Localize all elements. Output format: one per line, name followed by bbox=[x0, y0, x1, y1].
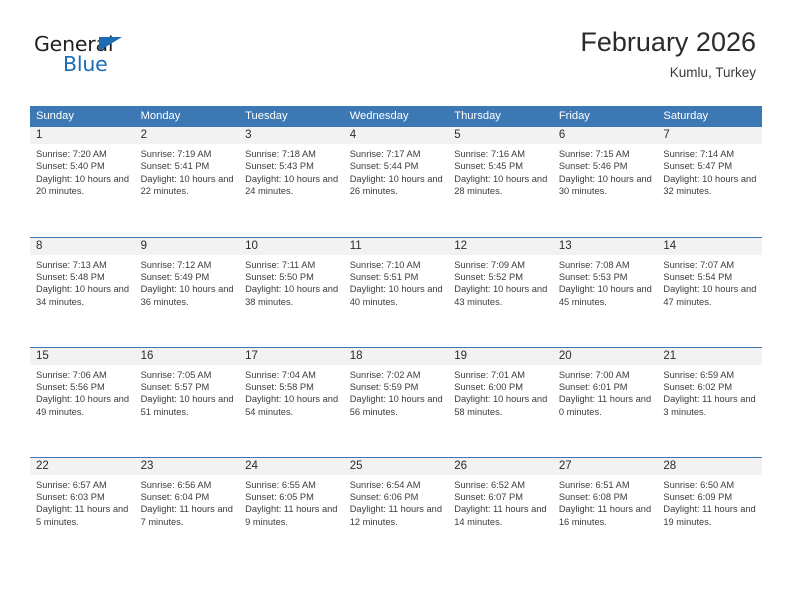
day-details: Sunrise: 6:57 AMSunset: 6:03 PMDaylight:… bbox=[30, 475, 135, 529]
sunset-text: Sunset: 5:53 PM bbox=[559, 271, 653, 283]
sunset-text: Sunset: 6:08 PM bbox=[559, 491, 653, 503]
sunrise-text: Sunrise: 6:55 AM bbox=[245, 479, 339, 491]
calendar-day-cell[interactable]: 10Sunrise: 7:11 AMSunset: 5:50 PMDayligh… bbox=[239, 237, 344, 347]
sunset-text: Sunset: 5:54 PM bbox=[663, 271, 757, 283]
day-details: Sunrise: 7:16 AMSunset: 5:45 PMDaylight:… bbox=[448, 144, 553, 198]
sunrise-text: Sunrise: 6:51 AM bbox=[559, 479, 653, 491]
day-details: Sunrise: 7:09 AMSunset: 5:52 PMDaylight:… bbox=[448, 255, 553, 309]
day-number: 10 bbox=[239, 238, 344, 255]
daylight-text: Daylight: 11 hours and 9 minutes. bbox=[245, 503, 339, 528]
sunrise-text: Sunrise: 7:05 AM bbox=[141, 369, 235, 381]
sunrise-text: Sunrise: 7:17 AM bbox=[350, 148, 444, 160]
sunrise-text: Sunrise: 7:14 AM bbox=[663, 148, 757, 160]
day-number: 19 bbox=[448, 348, 553, 365]
calendar-day-cell[interactable]: 4Sunrise: 7:17 AMSunset: 5:44 PMDaylight… bbox=[344, 127, 449, 237]
calendar-day-cell[interactable]: 6Sunrise: 7:15 AMSunset: 5:46 PMDaylight… bbox=[553, 127, 658, 237]
calendar-day-cell[interactable]: 11Sunrise: 7:10 AMSunset: 5:51 PMDayligh… bbox=[344, 237, 449, 347]
calendar-week-row: 8Sunrise: 7:13 AMSunset: 5:48 PMDaylight… bbox=[30, 237, 762, 347]
sunset-text: Sunset: 5:56 PM bbox=[36, 381, 130, 393]
weekday-header-monday: Monday bbox=[135, 106, 240, 127]
sunrise-text: Sunrise: 7:09 AM bbox=[454, 259, 548, 271]
daylight-text: Daylight: 10 hours and 34 minutes. bbox=[36, 283, 130, 308]
day-number: 17 bbox=[239, 348, 344, 365]
day-details: Sunrise: 6:52 AMSunset: 6:07 PMDaylight:… bbox=[448, 475, 553, 529]
sunset-text: Sunset: 5:58 PM bbox=[245, 381, 339, 393]
calendar-week-row: 22Sunrise: 6:57 AMSunset: 6:03 PMDayligh… bbox=[30, 457, 762, 567]
calendar-day-cell[interactable]: 20Sunrise: 7:00 AMSunset: 6:01 PMDayligh… bbox=[553, 347, 658, 457]
weekday-header-saturday: Saturday bbox=[657, 106, 762, 127]
daylight-text: Daylight: 11 hours and 7 minutes. bbox=[141, 503, 235, 528]
sunset-text: Sunset: 6:03 PM bbox=[36, 491, 130, 503]
calendar-day-cell[interactable]: 24Sunrise: 6:55 AMSunset: 6:05 PMDayligh… bbox=[239, 457, 344, 567]
calendar-day-cell[interactable]: 15Sunrise: 7:06 AMSunset: 5:56 PMDayligh… bbox=[30, 347, 135, 457]
weekday-header-thursday: Thursday bbox=[448, 106, 553, 127]
day-number: 25 bbox=[344, 458, 449, 475]
daylight-text: Daylight: 10 hours and 49 minutes. bbox=[36, 393, 130, 418]
day-number: 18 bbox=[344, 348, 449, 365]
calendar-day-cell[interactable]: 13Sunrise: 7:08 AMSunset: 5:53 PMDayligh… bbox=[553, 237, 658, 347]
day-details: Sunrise: 7:12 AMSunset: 5:49 PMDaylight:… bbox=[135, 255, 240, 309]
sunset-text: Sunset: 6:06 PM bbox=[350, 491, 444, 503]
sunrise-text: Sunrise: 7:20 AM bbox=[36, 148, 130, 160]
daylight-text: Daylight: 10 hours and 22 minutes. bbox=[141, 173, 235, 198]
day-details: Sunrise: 7:08 AMSunset: 5:53 PMDaylight:… bbox=[553, 255, 658, 309]
daylight-text: Daylight: 10 hours and 24 minutes. bbox=[245, 173, 339, 198]
day-details: Sunrise: 6:54 AMSunset: 6:06 PMDaylight:… bbox=[344, 475, 449, 529]
day-details: Sunrise: 7:10 AMSunset: 5:51 PMDaylight:… bbox=[344, 255, 449, 309]
sunrise-text: Sunrise: 6:52 AM bbox=[454, 479, 548, 491]
day-number: 14 bbox=[657, 238, 762, 255]
sunset-text: Sunset: 6:05 PM bbox=[245, 491, 339, 503]
calendar-day-cell[interactable]: 27Sunrise: 6:51 AMSunset: 6:08 PMDayligh… bbox=[553, 457, 658, 567]
day-number: 3 bbox=[239, 127, 344, 144]
sunrise-text: Sunrise: 7:01 AM bbox=[454, 369, 548, 381]
calendar-day-cell[interactable]: 25Sunrise: 6:54 AMSunset: 6:06 PMDayligh… bbox=[344, 457, 449, 567]
day-number: 2 bbox=[135, 127, 240, 144]
day-details: Sunrise: 6:59 AMSunset: 6:02 PMDaylight:… bbox=[657, 365, 762, 419]
weekday-header-friday: Friday bbox=[553, 106, 658, 127]
sunset-text: Sunset: 5:49 PM bbox=[141, 271, 235, 283]
sunrise-text: Sunrise: 6:59 AM bbox=[663, 369, 757, 381]
sunset-text: Sunset: 5:47 PM bbox=[663, 160, 757, 172]
day-number: 12 bbox=[448, 238, 553, 255]
day-details: Sunrise: 7:17 AMSunset: 5:44 PMDaylight:… bbox=[344, 144, 449, 198]
daylight-text: Daylight: 10 hours and 30 minutes. bbox=[559, 173, 653, 198]
sunrise-text: Sunrise: 7:02 AM bbox=[350, 369, 444, 381]
sunset-text: Sunset: 5:41 PM bbox=[141, 160, 235, 172]
sunset-text: Sunset: 5:57 PM bbox=[141, 381, 235, 393]
calendar-day-cell[interactable]: 28Sunrise: 6:50 AMSunset: 6:09 PMDayligh… bbox=[657, 457, 762, 567]
day-number: 21 bbox=[657, 348, 762, 365]
day-details: Sunrise: 7:00 AMSunset: 6:01 PMDaylight:… bbox=[553, 365, 658, 419]
day-number: 23 bbox=[135, 458, 240, 475]
day-number: 1 bbox=[30, 127, 135, 144]
day-details: Sunrise: 7:14 AMSunset: 5:47 PMDaylight:… bbox=[657, 144, 762, 198]
day-number: 20 bbox=[553, 348, 658, 365]
title-block: February 2026 Kumlu, Turkey bbox=[580, 28, 756, 81]
day-details: Sunrise: 6:55 AMSunset: 6:05 PMDaylight:… bbox=[239, 475, 344, 529]
calendar-day-cell[interactable]: 3Sunrise: 7:18 AMSunset: 5:43 PMDaylight… bbox=[239, 127, 344, 237]
calendar-header-row: Sunday Monday Tuesday Wednesday Thursday… bbox=[30, 106, 762, 127]
daylight-text: Daylight: 10 hours and 56 minutes. bbox=[350, 393, 444, 418]
calendar-day-cell[interactable]: 1Sunrise: 7:20 AMSunset: 5:40 PMDaylight… bbox=[30, 127, 135, 237]
daylight-text: Daylight: 10 hours and 36 minutes. bbox=[141, 283, 235, 308]
sunrise-text: Sunrise: 6:57 AM bbox=[36, 479, 130, 491]
general-blue-logo: General Blue bbox=[34, 28, 144, 80]
daylight-text: Daylight: 11 hours and 5 minutes. bbox=[36, 503, 130, 528]
sunset-text: Sunset: 5:48 PM bbox=[36, 271, 130, 283]
sunset-text: Sunset: 6:04 PM bbox=[141, 491, 235, 503]
day-details: Sunrise: 7:11 AMSunset: 5:50 PMDaylight:… bbox=[239, 255, 344, 309]
calendar-page: General Blue February 2026 Kumlu, Turkey… bbox=[0, 0, 792, 612]
sunrise-text: Sunrise: 6:54 AM bbox=[350, 479, 444, 491]
calendar-day-cell[interactable]: 5Sunrise: 7:16 AMSunset: 5:45 PMDaylight… bbox=[448, 127, 553, 237]
day-number: 24 bbox=[239, 458, 344, 475]
daylight-text: Daylight: 10 hours and 38 minutes. bbox=[245, 283, 339, 308]
calendar-week-row: 1Sunrise: 7:20 AMSunset: 5:40 PMDaylight… bbox=[30, 127, 762, 237]
sunrise-text: Sunrise: 7:08 AM bbox=[559, 259, 653, 271]
day-details: Sunrise: 7:13 AMSunset: 5:48 PMDaylight:… bbox=[30, 255, 135, 309]
logo-triangle-icon bbox=[99, 37, 122, 51]
daylight-text: Daylight: 10 hours and 28 minutes. bbox=[454, 173, 548, 198]
day-number: 22 bbox=[30, 458, 135, 475]
daylight-text: Daylight: 10 hours and 40 minutes. bbox=[350, 283, 444, 308]
sunrise-text: Sunrise: 7:10 AM bbox=[350, 259, 444, 271]
daylight-text: Daylight: 11 hours and 16 minutes. bbox=[559, 503, 653, 528]
day-number: 15 bbox=[30, 348, 135, 365]
day-number: 8 bbox=[30, 238, 135, 255]
sunset-text: Sunset: 5:51 PM bbox=[350, 271, 444, 283]
day-details: Sunrise: 7:04 AMSunset: 5:58 PMDaylight:… bbox=[239, 365, 344, 419]
daylight-text: Daylight: 10 hours and 43 minutes. bbox=[454, 283, 548, 308]
day-details: Sunrise: 7:01 AMSunset: 6:00 PMDaylight:… bbox=[448, 365, 553, 419]
calendar-day-cell[interactable]: 26Sunrise: 6:52 AMSunset: 6:07 PMDayligh… bbox=[448, 457, 553, 567]
sunset-text: Sunset: 6:07 PM bbox=[454, 491, 548, 503]
day-number: 16 bbox=[135, 348, 240, 365]
daylight-text: Daylight: 10 hours and 47 minutes. bbox=[663, 283, 757, 308]
weekday-header-wednesday: Wednesday bbox=[344, 106, 449, 127]
day-details: Sunrise: 7:06 AMSunset: 5:56 PMDaylight:… bbox=[30, 365, 135, 419]
sunrise-text: Sunrise: 7:04 AM bbox=[245, 369, 339, 381]
day-details: Sunrise: 6:51 AMSunset: 6:08 PMDaylight:… bbox=[553, 475, 658, 529]
daylight-text: Daylight: 10 hours and 26 minutes. bbox=[350, 173, 444, 198]
calendar-day-cell[interactable]: 9Sunrise: 7:12 AMSunset: 5:49 PMDaylight… bbox=[135, 237, 240, 347]
sunset-text: Sunset: 6:00 PM bbox=[454, 381, 548, 393]
daylight-text: Daylight: 11 hours and 3 minutes. bbox=[663, 393, 757, 418]
location-subtitle: Kumlu, Turkey bbox=[580, 66, 756, 81]
sunset-text: Sunset: 5:59 PM bbox=[350, 381, 444, 393]
sunrise-text: Sunrise: 7:11 AM bbox=[245, 259, 339, 271]
sunrise-text: Sunrise: 7:12 AM bbox=[141, 259, 235, 271]
calendar-day-cell[interactable]: 16Sunrise: 7:05 AMSunset: 5:57 PMDayligh… bbox=[135, 347, 240, 457]
sunset-text: Sunset: 5:45 PM bbox=[454, 160, 548, 172]
calendar-day-cell[interactable]: 23Sunrise: 6:56 AMSunset: 6:04 PMDayligh… bbox=[135, 457, 240, 567]
day-details: Sunrise: 6:50 AMSunset: 6:09 PMDaylight:… bbox=[657, 475, 762, 529]
day-number: 27 bbox=[553, 458, 658, 475]
calendar-table: Sunday Monday Tuesday Wednesday Thursday… bbox=[30, 106, 762, 567]
day-details: Sunrise: 7:05 AMSunset: 5:57 PMDaylight:… bbox=[135, 365, 240, 419]
sunset-text: Sunset: 5:44 PM bbox=[350, 160, 444, 172]
day-number: 11 bbox=[344, 238, 449, 255]
daylight-text: Daylight: 10 hours and 32 minutes. bbox=[663, 173, 757, 198]
sunrise-text: Sunrise: 7:06 AM bbox=[36, 369, 130, 381]
calendar-day-cell[interactable]: 21Sunrise: 6:59 AMSunset: 6:02 PMDayligh… bbox=[657, 347, 762, 457]
sunrise-text: Sunrise: 7:19 AM bbox=[141, 148, 235, 160]
weekday-header-tuesday: Tuesday bbox=[239, 106, 344, 127]
calendar-day-cell[interactable]: 19Sunrise: 7:01 AMSunset: 6:00 PMDayligh… bbox=[448, 347, 553, 457]
day-number: 5 bbox=[448, 127, 553, 144]
calendar-day-cell[interactable]: 2Sunrise: 7:19 AMSunset: 5:41 PMDaylight… bbox=[135, 127, 240, 237]
daylight-text: Daylight: 11 hours and 12 minutes. bbox=[350, 503, 444, 528]
sunset-text: Sunset: 6:01 PM bbox=[559, 381, 653, 393]
page-title: February 2026 bbox=[580, 28, 756, 58]
sunrise-text: Sunrise: 7:00 AM bbox=[559, 369, 653, 381]
day-details: Sunrise: 7:07 AMSunset: 5:54 PMDaylight:… bbox=[657, 255, 762, 309]
daylight-text: Daylight: 10 hours and 20 minutes. bbox=[36, 173, 130, 198]
daylight-text: Daylight: 11 hours and 14 minutes. bbox=[454, 503, 548, 528]
calendar-day-cell[interactable]: 22Sunrise: 6:57 AMSunset: 6:03 PMDayligh… bbox=[30, 457, 135, 567]
daylight-text: Daylight: 10 hours and 54 minutes. bbox=[245, 393, 339, 418]
day-number: 4 bbox=[344, 127, 449, 144]
daylight-text: Daylight: 11 hours and 0 minutes. bbox=[559, 393, 653, 418]
daylight-text: Daylight: 10 hours and 45 minutes. bbox=[559, 283, 653, 308]
sunrise-text: Sunrise: 7:07 AM bbox=[663, 259, 757, 271]
calendar-day-cell[interactable]: 17Sunrise: 7:04 AMSunset: 5:58 PMDayligh… bbox=[239, 347, 344, 457]
daylight-text: Daylight: 10 hours and 58 minutes. bbox=[454, 393, 548, 418]
sunset-text: Sunset: 5:52 PM bbox=[454, 271, 548, 283]
day-details: Sunrise: 7:20 AMSunset: 5:40 PMDaylight:… bbox=[30, 144, 135, 198]
sunset-text: Sunset: 5:46 PM bbox=[559, 160, 653, 172]
day-details: Sunrise: 7:18 AMSunset: 5:43 PMDaylight:… bbox=[239, 144, 344, 198]
weekday-header-row: Sunday Monday Tuesday Wednesday Thursday… bbox=[30, 106, 762, 127]
calendar-week-row: 15Sunrise: 7:06 AMSunset: 5:56 PMDayligh… bbox=[30, 347, 762, 457]
day-number: 7 bbox=[657, 127, 762, 144]
sunrise-text: Sunrise: 6:50 AM bbox=[663, 479, 757, 491]
page-header: General Blue February 2026 Kumlu, Turkey bbox=[0, 28, 792, 94]
weekday-header-sunday: Sunday bbox=[30, 106, 135, 127]
calendar-day-cell[interactable]: 8Sunrise: 7:13 AMSunset: 5:48 PMDaylight… bbox=[30, 237, 135, 347]
day-details: Sunrise: 7:02 AMSunset: 5:59 PMDaylight:… bbox=[344, 365, 449, 419]
day-details: Sunrise: 7:19 AMSunset: 5:41 PMDaylight:… bbox=[135, 144, 240, 198]
calendar-day-cell[interactable]: 18Sunrise: 7:02 AMSunset: 5:59 PMDayligh… bbox=[344, 347, 449, 457]
sunset-text: Sunset: 5:50 PM bbox=[245, 271, 339, 283]
calendar-day-cell[interactable]: 7Sunrise: 7:14 AMSunset: 5:47 PMDaylight… bbox=[657, 127, 762, 237]
daylight-text: Daylight: 11 hours and 19 minutes. bbox=[663, 503, 757, 528]
day-details: Sunrise: 6:56 AMSunset: 6:04 PMDaylight:… bbox=[135, 475, 240, 529]
calendar-day-cell[interactable]: 12Sunrise: 7:09 AMSunset: 5:52 PMDayligh… bbox=[448, 237, 553, 347]
day-number: 28 bbox=[657, 458, 762, 475]
calendar-day-cell[interactable]: 14Sunrise: 7:07 AMSunset: 5:54 PMDayligh… bbox=[657, 237, 762, 347]
sunset-text: Sunset: 5:40 PM bbox=[36, 160, 130, 172]
day-number: 9 bbox=[135, 238, 240, 255]
sunrise-text: Sunrise: 6:56 AM bbox=[141, 479, 235, 491]
day-number: 26 bbox=[448, 458, 553, 475]
sunset-text: Sunset: 6:02 PM bbox=[663, 381, 757, 393]
sunset-text: Sunset: 5:43 PM bbox=[245, 160, 339, 172]
day-number: 6 bbox=[553, 127, 658, 144]
logo-text-blue: Blue bbox=[63, 54, 108, 75]
daylight-text: Daylight: 10 hours and 51 minutes. bbox=[141, 393, 235, 418]
sunset-text: Sunset: 6:09 PM bbox=[663, 491, 757, 503]
sunrise-text: Sunrise: 7:13 AM bbox=[36, 259, 130, 271]
sunrise-text: Sunrise: 7:18 AM bbox=[245, 148, 339, 160]
calendar-body: 1Sunrise: 7:20 AMSunset: 5:40 PMDaylight… bbox=[30, 127, 762, 567]
sunrise-text: Sunrise: 7:16 AM bbox=[454, 148, 548, 160]
day-number: 13 bbox=[553, 238, 658, 255]
sunrise-text: Sunrise: 7:15 AM bbox=[559, 148, 653, 160]
day-details: Sunrise: 7:15 AMSunset: 5:46 PMDaylight:… bbox=[553, 144, 658, 198]
